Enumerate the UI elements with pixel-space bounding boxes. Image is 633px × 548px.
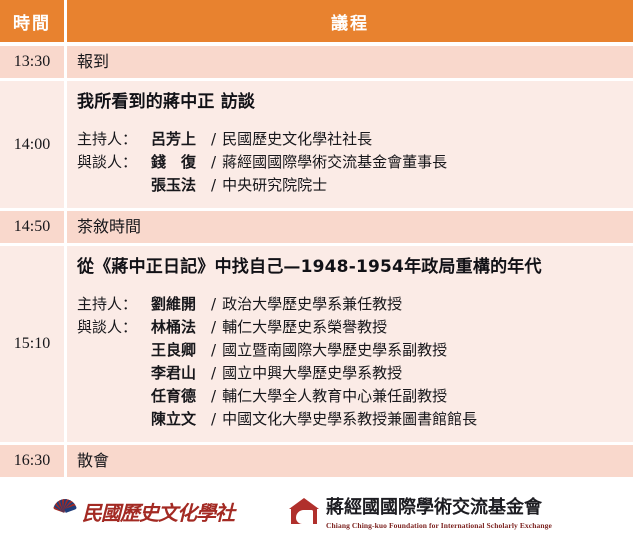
person-role: 與談人： [77,316,151,339]
person-name: 李君山 [151,362,207,385]
session-person: 李君山/國立中興大學歷史學系教授 [77,362,627,385]
session-person: 主持人：劉維開/政治大學歷史學系兼任教授 [77,293,627,316]
row-topic: 茶敘時間 [67,211,633,246]
table-row: 16:30 散會 [0,445,633,480]
person-affiliation: 國立中興大學歷史學系教授 [222,364,402,382]
table-row: 14:00 我所看到的蔣中正 訪談 主持人：呂芳上/民國歷史文化學社社長 與談人… [0,81,633,211]
session-block: 從《蔣中正日記》中找自己—1948-1954年政局重構的年代 主持人：劉維開/政… [77,246,627,442]
person-name: 任育德 [151,385,207,408]
row-label: 報到 [77,46,627,78]
house-icon [289,498,319,524]
logo-minguo-history-society: 民國歷史文化學社 [52,497,234,526]
row-time: 13:30 [0,46,67,81]
footer-logos: 民國歷史文化學社 蔣經國國際學術交流基金會 Chiang Ching-kuo F… [0,480,633,538]
header-topic: 議程 [67,0,633,46]
row-topic: 散會 [67,445,633,480]
starburst-icon [52,498,78,524]
logo-cckf-text: 蔣經國國際學術交流基金會 Chiang Ching-kuo Foundation… [326,493,552,530]
person-affiliation: 中國文化大學史學系教授兼圖書館館長 [222,410,477,428]
agenda-table: 時間 議程 13:30 報到 14:00 我所看到的蔣中正 訪談 主持人：呂芳上… [0,0,633,480]
row-topic: 報到 [67,46,633,81]
person-name: 呂芳上 [151,128,207,151]
row-time: 15:10 [0,246,67,445]
logo-chiang-ching-kuo-foundation: 蔣經國國際學術交流基金會 Chiang Ching-kuo Foundation… [289,493,552,530]
person-name: 林桶法 [151,316,207,339]
person-separator: / [207,364,222,382]
person-separator: / [207,295,222,313]
session-person: 陳立文/中國文化大學史學系教授兼圖書館館長 [77,408,627,431]
row-label: 茶敘時間 [77,211,627,243]
person-affiliation: 國立暨南國際大學歷史學系副教授 [222,341,447,359]
logo-mhss-name: 民國歷史文化學社 [82,497,234,526]
session-block: 我所看到的蔣中正 訪談 主持人：呂芳上/民國歷史文化學社社長 與談人：錢 復/蔣… [77,81,627,208]
row-topic: 我所看到的蔣中正 訪談 主持人：呂芳上/民國歷史文化學社社長 與談人：錢 復/蔣… [67,81,633,211]
person-separator: / [207,341,222,359]
person-separator: / [207,130,222,148]
row-label: 散會 [77,445,627,477]
person-separator: / [207,318,222,336]
person-affiliation: 輔仁大學全人教育中心兼任副教授 [222,387,447,405]
person-role: 與談人： [77,151,151,174]
table-row: 15:10 從《蔣中正日記》中找自己—1948-1954年政局重構的年代 主持人… [0,246,633,445]
session-person: 主持人：呂芳上/民國歷史文化學社社長 [77,128,627,151]
person-separator: / [207,176,222,194]
person-name: 王良卿 [151,339,207,362]
person-affiliation: 蔣經國國際學術交流基金會董事長 [222,153,447,171]
house-swoop-shape [296,510,313,524]
person-separator: / [207,387,222,405]
session-person: 張玉法/中央研究院院士 [77,174,627,197]
session-person: 王良卿/國立暨南國際大學歷史學系副教授 [77,339,627,362]
logo-cckf-name-en: Chiang Ching-kuo Foundation for Internat… [326,521,552,530]
row-time: 14:00 [0,81,67,211]
row-time: 16:30 [0,445,67,480]
logo-cckf-name-zh: 蔣經國國際學術交流基金會 [326,493,552,519]
person-name: 劉維開 [151,293,207,316]
session-title: 從《蔣中正日記》中找自己—1948-1954年政局重構的年代 [77,255,627,279]
table-row: 14:50 茶敘時間 [0,211,633,246]
person-name: 張玉法 [151,174,207,197]
session-title: 我所看到的蔣中正 訪談 [77,90,627,114]
person-role: 主持人： [77,128,151,151]
person-name: 錢 復 [151,151,207,174]
person-affiliation: 中央研究院院士 [222,176,327,194]
person-role: 主持人： [77,293,151,316]
person-separator: / [207,410,222,428]
session-person: 與談人：錢 復/蔣經國國際學術交流基金會董事長 [77,151,627,174]
table-row: 13:30 報到 [0,46,633,81]
agenda-header-row: 時間 議程 [0,0,633,46]
agenda-body: 13:30 報到 14:00 我所看到的蔣中正 訪談 主持人：呂芳上/民國歷史文… [0,46,633,480]
header-time: 時間 [0,0,67,46]
person-affiliation: 政治大學歷史學系兼任教授 [222,295,402,313]
session-person: 任育德/輔仁大學全人教育中心兼任副教授 [77,385,627,408]
session-person: 與談人：林桶法/輔仁大學歷史系榮譽教授 [77,316,627,339]
row-time: 14:50 [0,211,67,246]
person-affiliation: 輔仁大學歷史系榮譽教授 [222,318,387,336]
person-separator: / [207,153,222,171]
person-name: 陳立文 [151,408,207,431]
person-affiliation: 民國歷史文化學社社長 [222,130,372,148]
row-topic: 從《蔣中正日記》中找自己—1948-1954年政局重構的年代 主持人：劉維開/政… [67,246,633,445]
